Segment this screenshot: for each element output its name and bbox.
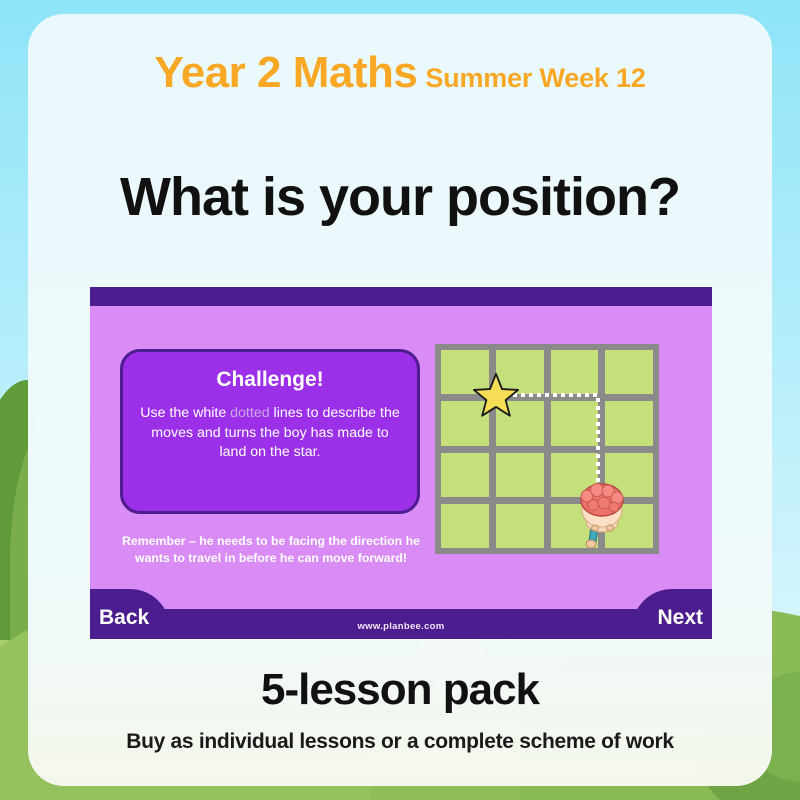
back-button[interactable]: Back: [90, 589, 170, 639]
slide-top-bar: [90, 287, 712, 306]
page-title: What is your position?: [28, 166, 772, 228]
slide-url: www.planbee.com: [90, 621, 712, 632]
remember-note: Remember – he needs to be facing the dir…: [116, 533, 426, 568]
challenge-text-part-1: Use the white: [140, 405, 230, 421]
challenge-card: Challenge! Use the white dotted lines to…: [120, 349, 420, 514]
content-card: Year 2 MathsSummer Week 12 What is your …: [28, 14, 772, 786]
grid-cell: [605, 401, 653, 445]
header: Year 2 MathsSummer Week 12: [28, 48, 772, 98]
boy-character-icon: [573, 472, 631, 550]
year-label: Year 2 Maths: [154, 48, 417, 97]
pack-title: 5-lesson pack: [28, 665, 772, 715]
grid-cell: [605, 350, 653, 394]
week-label: Summer Week 12: [425, 63, 645, 93]
grid-cell: [551, 350, 599, 394]
poster-root: Year 2 MathsSummer Week 12 What is your …: [0, 0, 800, 800]
star-icon: [473, 372, 519, 418]
grid-cell: [551, 401, 599, 445]
challenge-text-faded: dotted: [230, 405, 269, 421]
next-button[interactable]: Next: [632, 589, 712, 639]
slide-preview[interactable]: Challenge! Use the white dotted lines to…: [90, 287, 712, 639]
challenge-body: Use the white dotted lines to describe t…: [137, 404, 403, 463]
position-grid: [435, 344, 659, 554]
grid-cell: [496, 504, 544, 548]
grid-cell: [496, 453, 544, 497]
grid-cell: [441, 504, 489, 548]
grid-cell: [441, 453, 489, 497]
pack-subtitle: Buy as individual lessons or a complete …: [28, 730, 772, 754]
challenge-title: Challenge!: [123, 368, 417, 392]
